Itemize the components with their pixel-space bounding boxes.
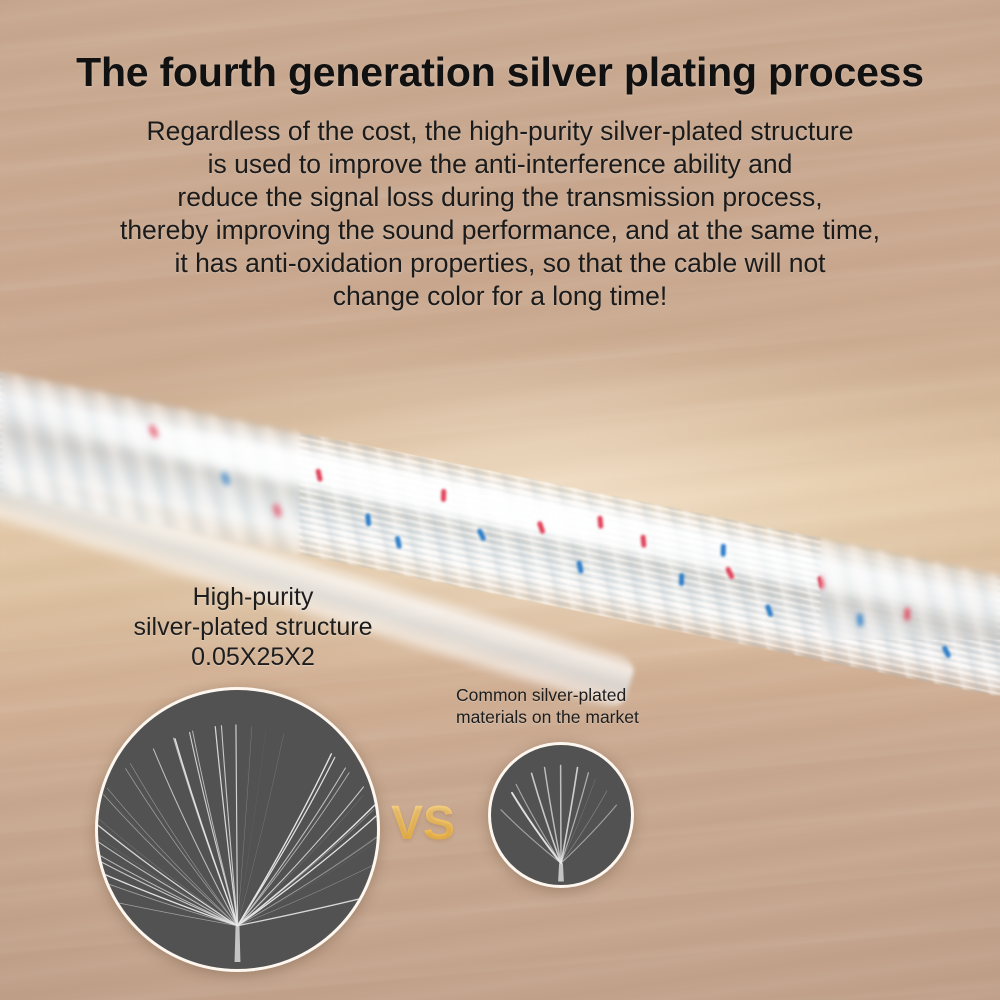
left-label-line-0: High-purity xyxy=(78,582,428,612)
left-label-line-1: silver-plated structure xyxy=(78,612,428,642)
left-sample-label: High-puritysilver-plated structure0.05X2… xyxy=(78,582,428,672)
common-material-closeup xyxy=(488,742,634,888)
tracer-thread xyxy=(764,604,773,618)
strand xyxy=(238,803,377,926)
strand xyxy=(561,779,595,863)
description-line-5: change color for a long time! xyxy=(0,280,1000,313)
right-label-line-0: Common silver-plated xyxy=(456,684,756,706)
tracer-thread xyxy=(725,566,735,580)
page-description: Regardless of the cost, the high-purity … xyxy=(0,115,1000,313)
right-sample-label: Common silver-platedmaterials on the mar… xyxy=(456,684,756,728)
header-block: The fourth generation silver plating pro… xyxy=(0,0,1000,313)
strand-fan-sparse xyxy=(491,745,631,885)
tracer-thread xyxy=(597,516,603,529)
tracer-thread xyxy=(640,534,646,547)
tracer-thread xyxy=(149,425,159,439)
tracer-thread xyxy=(720,543,725,556)
tracer-thread xyxy=(905,608,910,621)
high-purity-strand-closeup xyxy=(95,687,380,972)
right-label-line-1: materials on the market xyxy=(456,706,756,728)
strand xyxy=(238,727,251,926)
tracer-thread xyxy=(315,468,323,482)
tracer-thread xyxy=(941,645,951,659)
tracer-thread xyxy=(817,575,825,589)
tracer-thread xyxy=(679,573,684,586)
left-label-line-2: 0.05X25X2 xyxy=(78,642,428,672)
tracer-thread xyxy=(440,489,445,502)
strand xyxy=(238,754,332,926)
strand xyxy=(561,768,577,864)
page-title: The fourth generation silver plating pro… xyxy=(0,0,1000,93)
strand xyxy=(545,768,561,864)
strand xyxy=(238,730,267,926)
tracer-thread xyxy=(395,536,403,550)
tracer-thread xyxy=(537,521,546,535)
description-line-2: reduce the signal loss during the transm… xyxy=(0,181,1000,214)
strand-fan-dense xyxy=(98,690,377,969)
tracer-thread xyxy=(365,513,371,526)
strand xyxy=(98,820,237,926)
tracer-thread xyxy=(476,528,486,542)
strand xyxy=(238,768,346,926)
description-line-4: it has anti-oxidation properties, so tha… xyxy=(0,247,1000,280)
strand xyxy=(238,787,364,926)
description-line-0: Regardless of the cost, the high-purity … xyxy=(0,115,1000,148)
description-line-1: is used to improve the anti-interference… xyxy=(0,148,1000,181)
tracer-thread xyxy=(273,504,282,518)
tracer-thread xyxy=(576,561,584,575)
vs-badge: VS xyxy=(388,795,458,853)
strand xyxy=(532,773,561,863)
tracer-thread xyxy=(857,613,863,626)
description-line-3: thereby improving the sound performance,… xyxy=(0,214,1000,247)
tracer-thread xyxy=(221,471,230,485)
promo-graphic: The fourth generation silver plating pro… xyxy=(0,0,1000,1000)
